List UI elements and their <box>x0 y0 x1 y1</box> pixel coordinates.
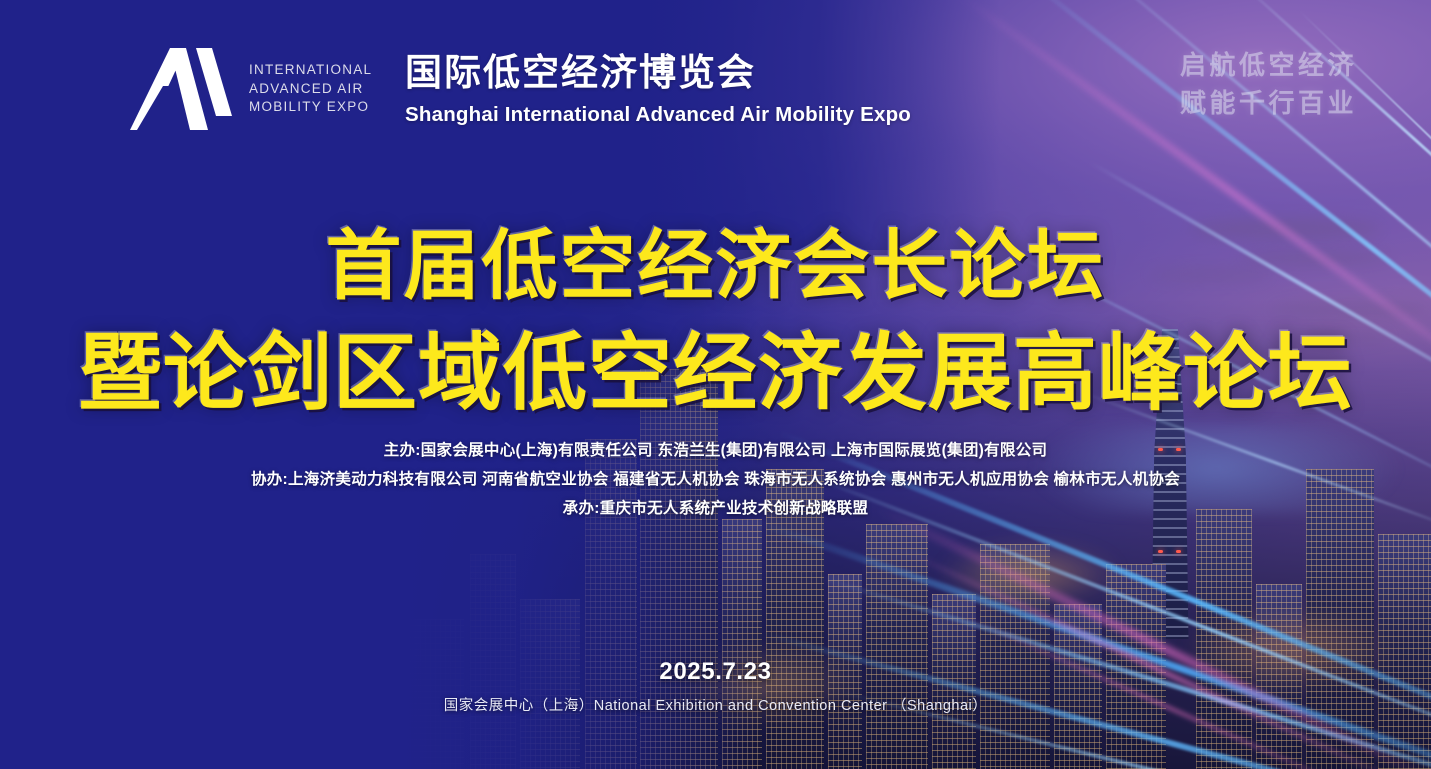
aam-chevron-logo-icon <box>124 44 232 134</box>
organizer-host: 主办:国家会展中心(上海)有限责任公司 东浩兰生(集团)有限公司 上海市国际展览… <box>0 436 1431 465</box>
slogan-line-2: 赋能千行百业 <box>1180 84 1357 122</box>
main-title: 首届低空经济会长论坛 暨论剑区域低空经济发展高峰论坛 <box>0 212 1431 428</box>
event-date: 2025.7.23 <box>0 658 1431 686</box>
event-venue: 国家会展中心（上海）National Exhibition and Conven… <box>0 694 1431 715</box>
expo-title-cn: 国际低空经济博览会 <box>405 50 911 96</box>
expo-header: 国际低空经济博览会 Shanghai International Advance… <box>405 50 911 127</box>
expo-logo-text: INTERNATIONAL ADVANCED AIR MOBILITY EXPO <box>249 61 372 117</box>
organizer-co-host: 协办:上海济美动力科技有限公司 河南省航空业协会 福建省无人机协会 珠海市无人系… <box>0 465 1431 494</box>
main-title-line-2: 暨论剑区域低空经济发展高峰论坛 <box>0 318 1431 428</box>
expo-title-en: Shanghai International Advanced Air Mobi… <box>405 103 911 127</box>
slogan-line-1: 启航低空经济 <box>1180 46 1357 84</box>
footer-block: 2025.7.23 国家会展中心（上海）National Exhibition … <box>0 658 1431 715</box>
logo-line-3: MOBILITY EXPO <box>249 99 369 114</box>
slogan-block: 启航低空经济 赋能千行百业 <box>1180 46 1357 122</box>
main-title-line-1: 首届低空经济会长论坛 <box>326 224 1106 309</box>
organizer-undertaker: 承办:重庆市无人系统产业技术创新战略联盟 <box>0 494 1431 523</box>
organizer-block: 主办:国家会展中心(上海)有限责任公司 东浩兰生(集团)有限公司 上海市国际展览… <box>0 436 1431 523</box>
expo-logo: INTERNATIONAL ADVANCED AIR MOBILITY EXPO <box>124 44 372 134</box>
logo-line-2: ADVANCED AIR <box>249 81 364 96</box>
poster-canvas: INTERNATIONAL ADVANCED AIR MOBILITY EXPO… <box>0 0 1431 769</box>
logo-line-1: INTERNATIONAL <box>249 62 372 77</box>
poster-content: INTERNATIONAL ADVANCED AIR MOBILITY EXPO… <box>0 0 1431 769</box>
